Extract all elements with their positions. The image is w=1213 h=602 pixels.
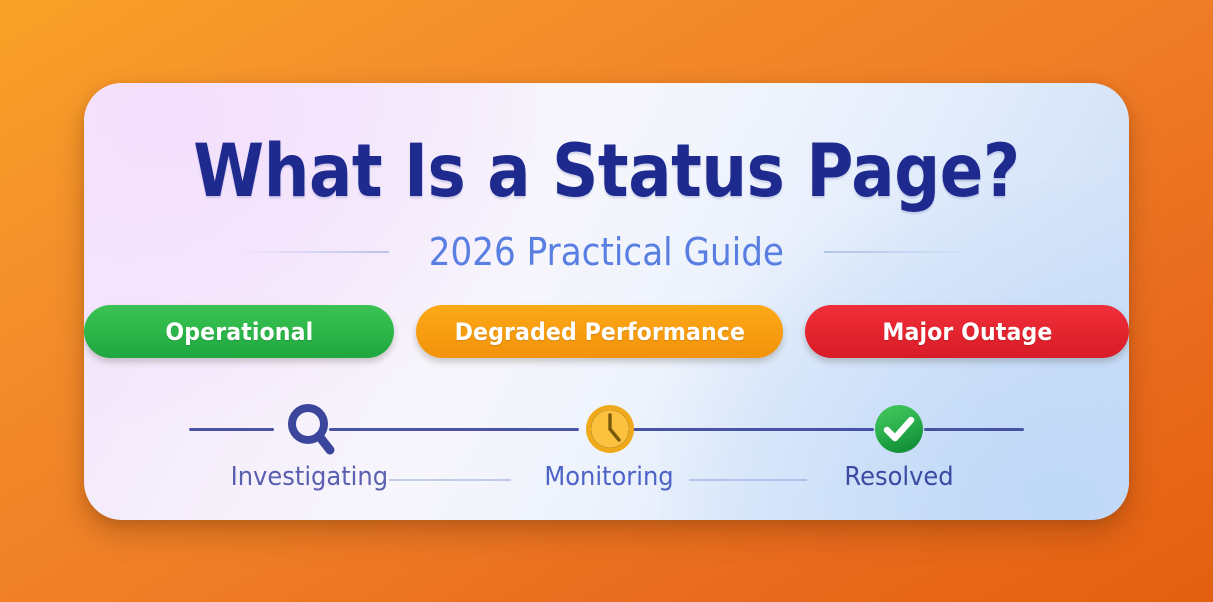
check-circle-icon xyxy=(873,403,925,455)
timeline-connector-segment xyxy=(924,428,1024,431)
timeline-label-investigating: Investigating xyxy=(231,462,380,492)
timeline-rail xyxy=(189,398,1024,460)
clock-icon xyxy=(584,403,636,455)
status-badge-operational[interactable]: Operational xyxy=(84,305,394,358)
page-title: What Is a Status Page? xyxy=(147,135,1067,208)
timeline-connector-segment xyxy=(629,428,874,431)
poster-canvas: What Is a Status Page? 2026 Practical Gu… xyxy=(0,0,1213,602)
timeline-labels: Investigating Monitoring Resolved xyxy=(189,462,1024,502)
status-badge-operational-label: Operational xyxy=(165,318,313,346)
timeline-connector-segment xyxy=(189,428,274,431)
timeline-step-monitoring[interactable] xyxy=(578,398,642,460)
timeline-label-monitoring: Monitoring xyxy=(525,462,692,492)
status-badge-degraded-performance[interactable]: Degraded Performance xyxy=(416,305,783,358)
page-subtitle: 2026 Practical Guide xyxy=(429,230,784,274)
info-card: What Is a Status Page? 2026 Practical Gu… xyxy=(84,83,1129,520)
timeline-label-connector xyxy=(389,479,511,481)
timeline-label-connector xyxy=(689,479,807,481)
incident-timeline: Investigating Monitoring Resolved xyxy=(189,398,1024,503)
magnifying-glass-icon xyxy=(285,400,337,458)
timeline-label-resolved: Resolved xyxy=(820,462,978,492)
status-badge-major-outage-label: Major Outage xyxy=(882,318,1052,346)
subtitle-row: 2026 Practical Guide xyxy=(84,230,1129,274)
timeline-connector-segment xyxy=(329,428,579,431)
subtitle-rule-right xyxy=(824,251,974,253)
subtitle-rule-left xyxy=(239,251,389,253)
status-badge-major-outage[interactable]: Major Outage xyxy=(805,305,1129,358)
timeline-step-investigating[interactable] xyxy=(279,398,343,460)
status-pill-group: Operational Degraded Performance Major O… xyxy=(84,305,1129,358)
timeline-step-resolved[interactable] xyxy=(867,398,931,460)
status-badge-degraded-performance-label: Degraded Performance xyxy=(454,318,744,346)
